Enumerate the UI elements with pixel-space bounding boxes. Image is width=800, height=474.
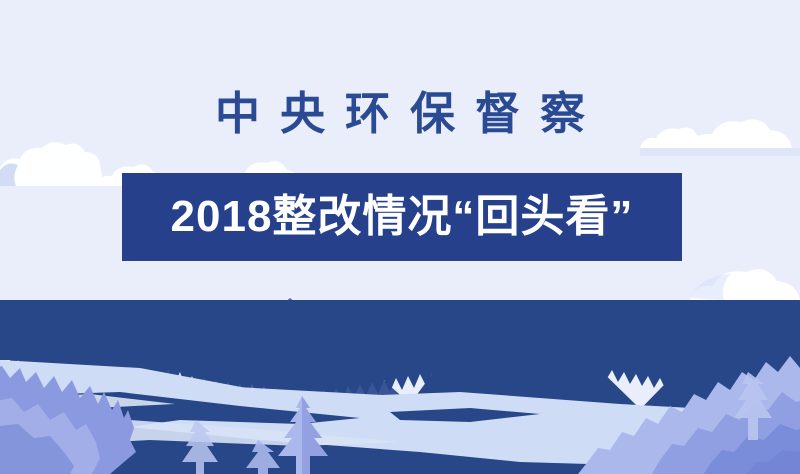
pine-tree-small-left bbox=[182, 420, 218, 474]
page-title: 中央环保督察 bbox=[0, 86, 800, 142]
foliage-bottom-left bbox=[0, 366, 136, 474]
subtitle-banner: 2018整改情况“回头看” bbox=[122, 173, 682, 261]
pine-tree-center bbox=[246, 396, 328, 474]
subtitle-text: 2018整改情况“回头看” bbox=[171, 195, 634, 239]
poster-canvas: 中央环保督察 2018整改情况“回头看” bbox=[0, 0, 800, 474]
